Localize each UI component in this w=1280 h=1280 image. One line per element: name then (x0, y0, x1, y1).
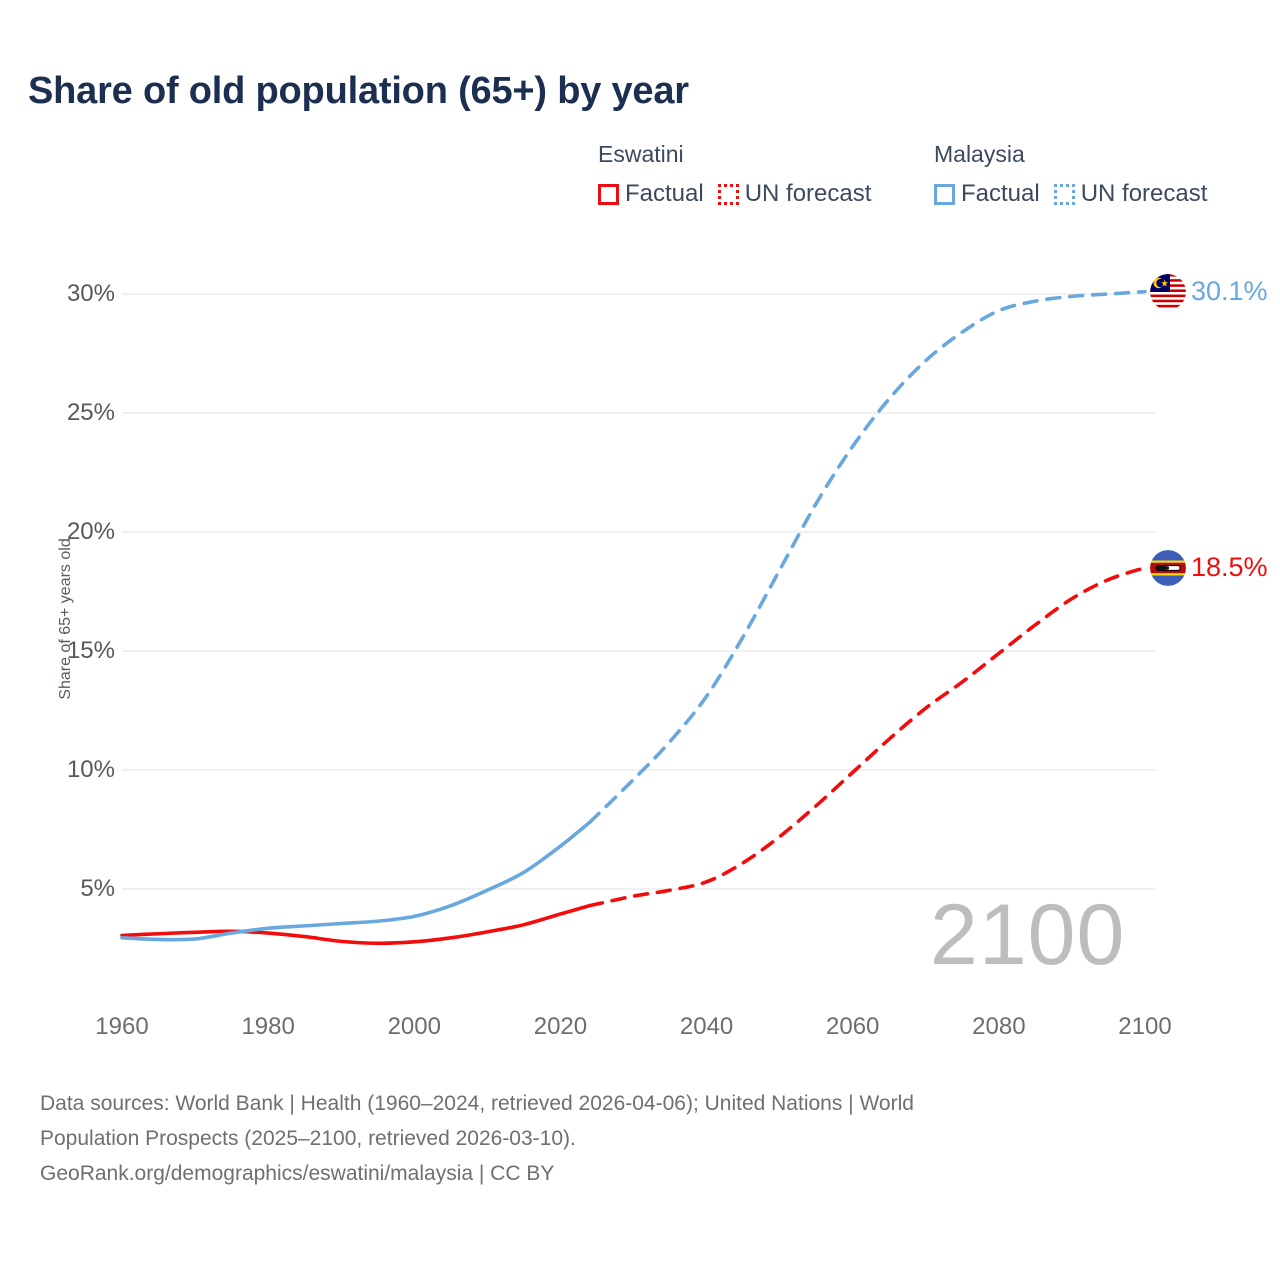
endpoint-eswatini: 18.5% (1150, 550, 1268, 586)
footer-line-1: Data sources: World Bank | Health (1960–… (40, 1086, 1180, 1121)
endpoint-value: 18.5% (1191, 552, 1268, 583)
malaysia-flag-icon (1150, 274, 1186, 310)
endpoint-malaysia: 30.1% (1150, 274, 1268, 310)
endpoint-value: 30.1% (1191, 276, 1268, 307)
footer-line-2: Population Prospects (2025–2100, retriev… (40, 1121, 1180, 1156)
series-line-malaysia-forecast (590, 292, 1145, 823)
series-line-malaysia-factual (122, 822, 590, 939)
year-watermark: 2100 (930, 892, 1125, 978)
footer-sources: Data sources: World Bank | Health (1960–… (40, 1086, 1180, 1191)
footer-line-3: GeoRank.org/demographics/eswatini/malays… (40, 1156, 1180, 1191)
eswatini-flag-icon (1150, 550, 1186, 586)
